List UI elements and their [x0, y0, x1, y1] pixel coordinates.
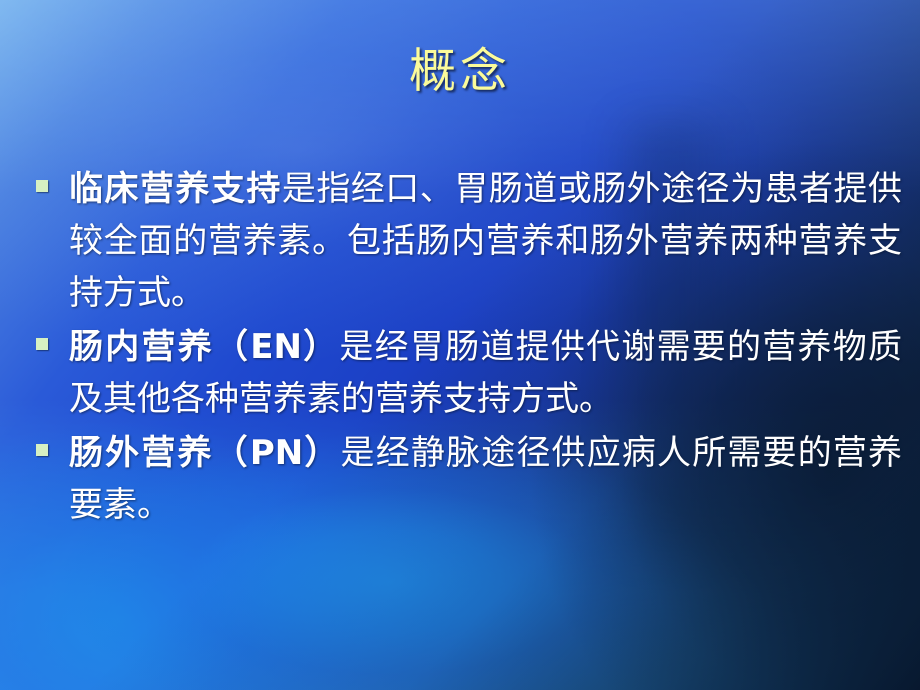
bullet-lead-term-2: 肠内营养（	[69, 327, 250, 367]
bullet-lead-tail-3: ）	[303, 433, 340, 473]
list-item[interactable]: 临床营养支持是指经口、胃肠道或肠外途径为患者提供较全面的营养素。包括肠内营养和肠…	[36, 163, 902, 319]
bullet-text-2: 肠内营养（EN）是经胃肠道提供代谢需要的营养物质及其他各种营养素的营养支持方式。	[69, 321, 902, 425]
bullet-acronym-2: EN	[250, 327, 302, 367]
bullet-lead-term-1: 临床营养支持	[69, 169, 282, 209]
list-item[interactable]: 肠外营养（PN）是经静脉途径供应病人所需要的营养要素。	[36, 427, 902, 531]
bullet-lead-tail-2: ）	[302, 327, 339, 367]
bullet-text-1: 临床营养支持是指经口、胃肠道或肠外途径为患者提供较全面的营养素。包括肠内营养和肠…	[69, 163, 902, 319]
bullet-text-3: 肠外营养（PN）是经静脉途径供应病人所需要的营养要素。	[69, 427, 902, 531]
square-bullet-icon	[36, 444, 48, 456]
list-item[interactable]: 肠内营养（EN）是经胃肠道提供代谢需要的营养物质及其他各种营养素的营养支持方式。	[36, 321, 902, 425]
bullet-lead-term-3: 肠外营养（	[69, 433, 250, 473]
square-bullet-icon	[36, 180, 48, 192]
slide-title: 概念	[0, 44, 920, 100]
bullet-acronym-3: PN	[250, 433, 303, 473]
square-bullet-icon	[36, 338, 48, 350]
presentation-slide: 概念 临床营养支持是指经口、胃肠道或肠外途径为患者提供较全面的营养素。包括肠内营…	[0, 0, 920, 690]
bullet-list: 临床营养支持是指经口、胃肠道或肠外途径为患者提供较全面的营养素。包括肠内营养和肠…	[36, 163, 902, 533]
